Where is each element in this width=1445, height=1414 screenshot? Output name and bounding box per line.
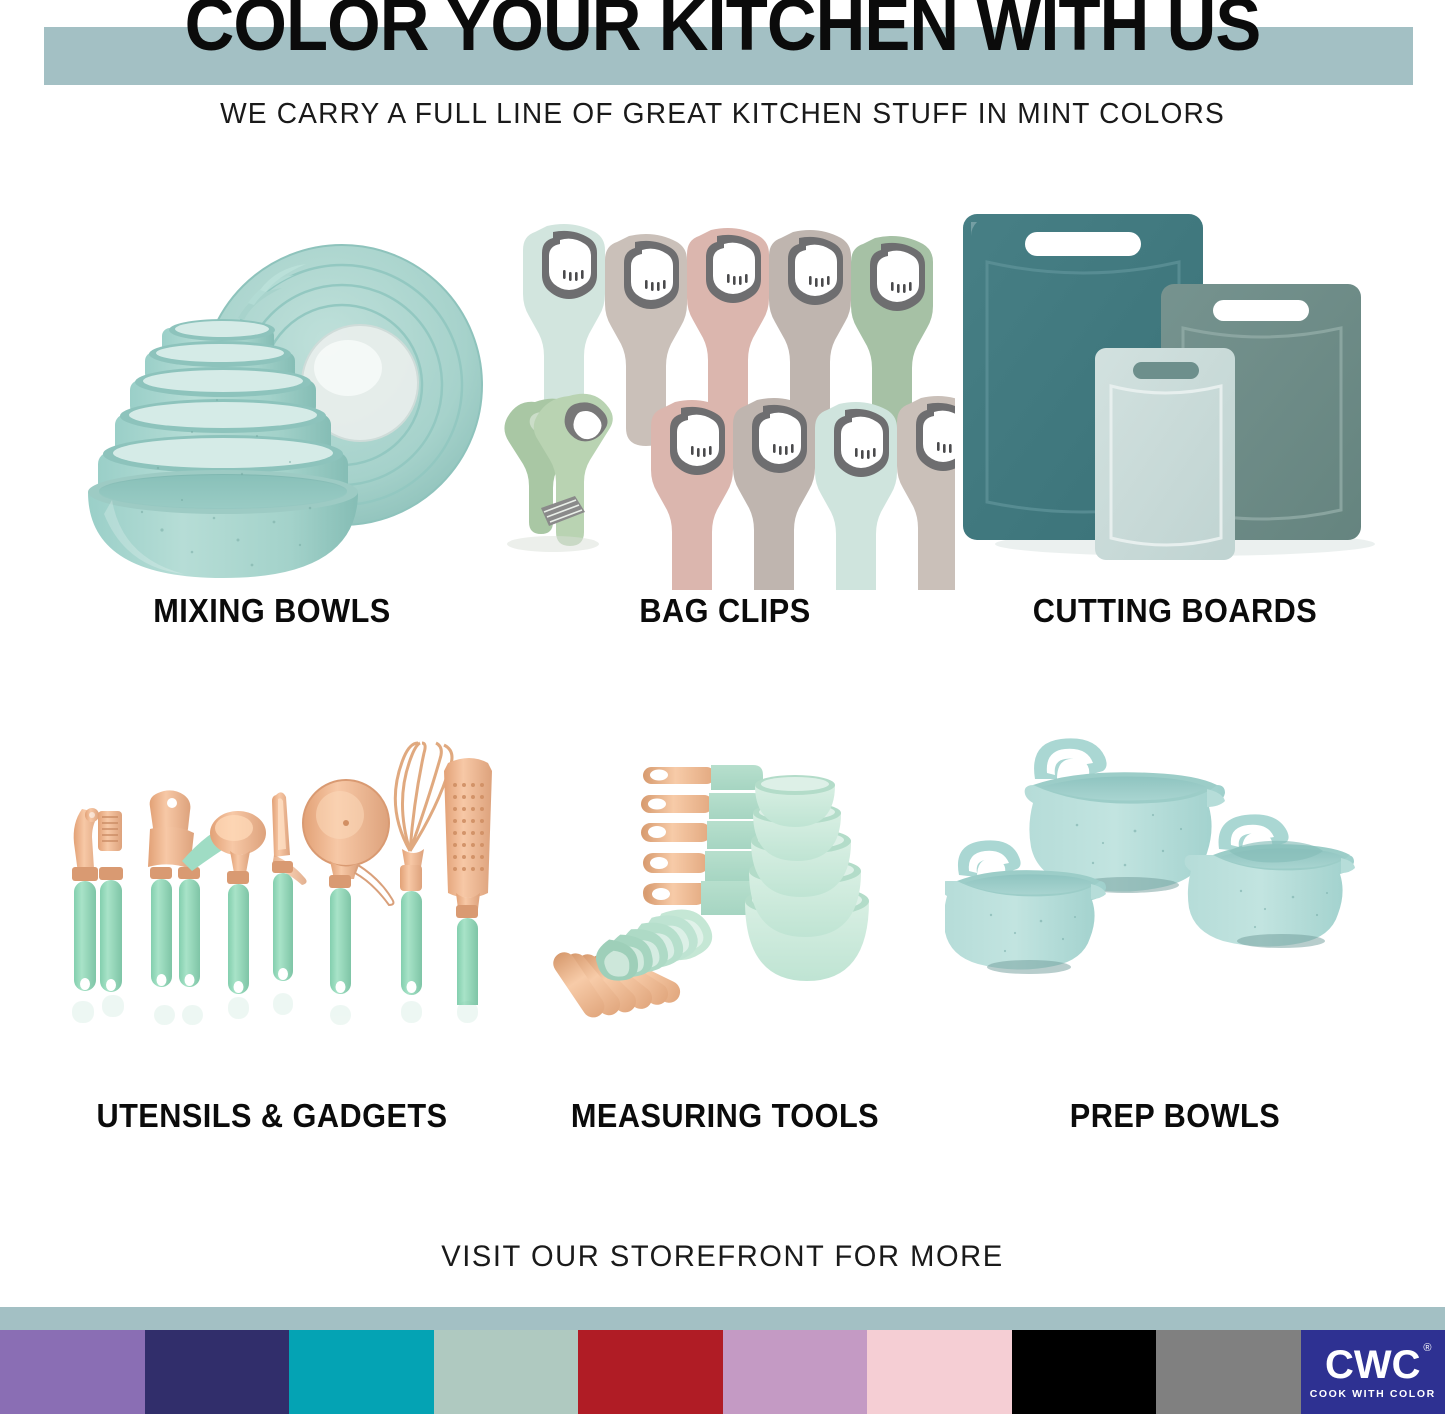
page-title: COLOR YOUR KITCHEN WITH US bbox=[51, 0, 1395, 64]
swatch-orchid bbox=[723, 1330, 868, 1414]
page-subtitle: WE CARRY A FULL LINE OF GREAT KITCHEN ST… bbox=[22, 98, 1424, 131]
header: COLOR YOUR KITCHEN WITH US WE CARRY A FU… bbox=[0, 0, 1445, 150]
category-card-utensils-gadgets[interactable]: UTENSILS & GADGETS bbox=[42, 705, 502, 1165]
category-label: PREP BOWLS bbox=[961, 1097, 1389, 1135]
category-card-bag-clips[interactable]: BAG CLIPS bbox=[495, 200, 955, 660]
category-card-prep-bowls[interactable]: PREP BOWLS bbox=[945, 705, 1405, 1165]
cutting-boards-illustration bbox=[945, 200, 1405, 590]
swatch-gray bbox=[1156, 1330, 1301, 1414]
swatch-navy bbox=[145, 1330, 290, 1414]
category-card-measuring-tools[interactable]: MEASURING TOOLS bbox=[495, 705, 955, 1165]
category-card-cutting-boards[interactable]: CUTTING BOARDS bbox=[945, 200, 1405, 660]
category-label: BAG CLIPS bbox=[511, 592, 939, 630]
prep-bowls-illustration bbox=[945, 705, 1405, 1095]
logo-text: CWC bbox=[1325, 1343, 1421, 1387]
mixing-bowls-illustration bbox=[42, 200, 502, 590]
category-label: UTENSILS & GADGETS bbox=[58, 1097, 486, 1135]
bag-clips-illustration bbox=[495, 200, 955, 590]
logo-wordmark: CWC® bbox=[1325, 1345, 1421, 1385]
storefront-cta[interactable]: VISIT OUR STOREFRONT FOR MORE bbox=[22, 1240, 1424, 1274]
swatch-black bbox=[1012, 1330, 1157, 1414]
measuring-tools-illustration bbox=[495, 705, 955, 1095]
category-card-mixing-bowls[interactable]: MIXING BOWLS bbox=[42, 200, 502, 660]
category-label: MEASURING TOOLS bbox=[511, 1097, 939, 1135]
category-grid: MIXING BOWLS bbox=[0, 200, 1445, 1200]
swatch-mint bbox=[434, 1330, 579, 1414]
swatch-red bbox=[578, 1330, 723, 1414]
swatch-purple bbox=[0, 1330, 145, 1414]
brand-logo[interactable]: CWC® COOK WITH COLOR bbox=[1301, 1330, 1445, 1414]
registered-trademark-icon: ® bbox=[1423, 1343, 1431, 1354]
category-label: MIXING BOWLS bbox=[58, 592, 486, 630]
logo-tagline: COOK WITH COLOR bbox=[1310, 1388, 1436, 1400]
swatch-teal bbox=[289, 1330, 434, 1414]
color-swatch-strip: CWC® COOK WITH COLOR bbox=[0, 1330, 1445, 1414]
swatch-light-pink bbox=[867, 1330, 1012, 1414]
utensils-gadgets-illustration bbox=[42, 705, 502, 1095]
category-label: CUTTING BOARDS bbox=[961, 592, 1389, 630]
infographic-page: COLOR YOUR KITCHEN WITH US WE CARRY A FU… bbox=[0, 0, 1445, 1414]
